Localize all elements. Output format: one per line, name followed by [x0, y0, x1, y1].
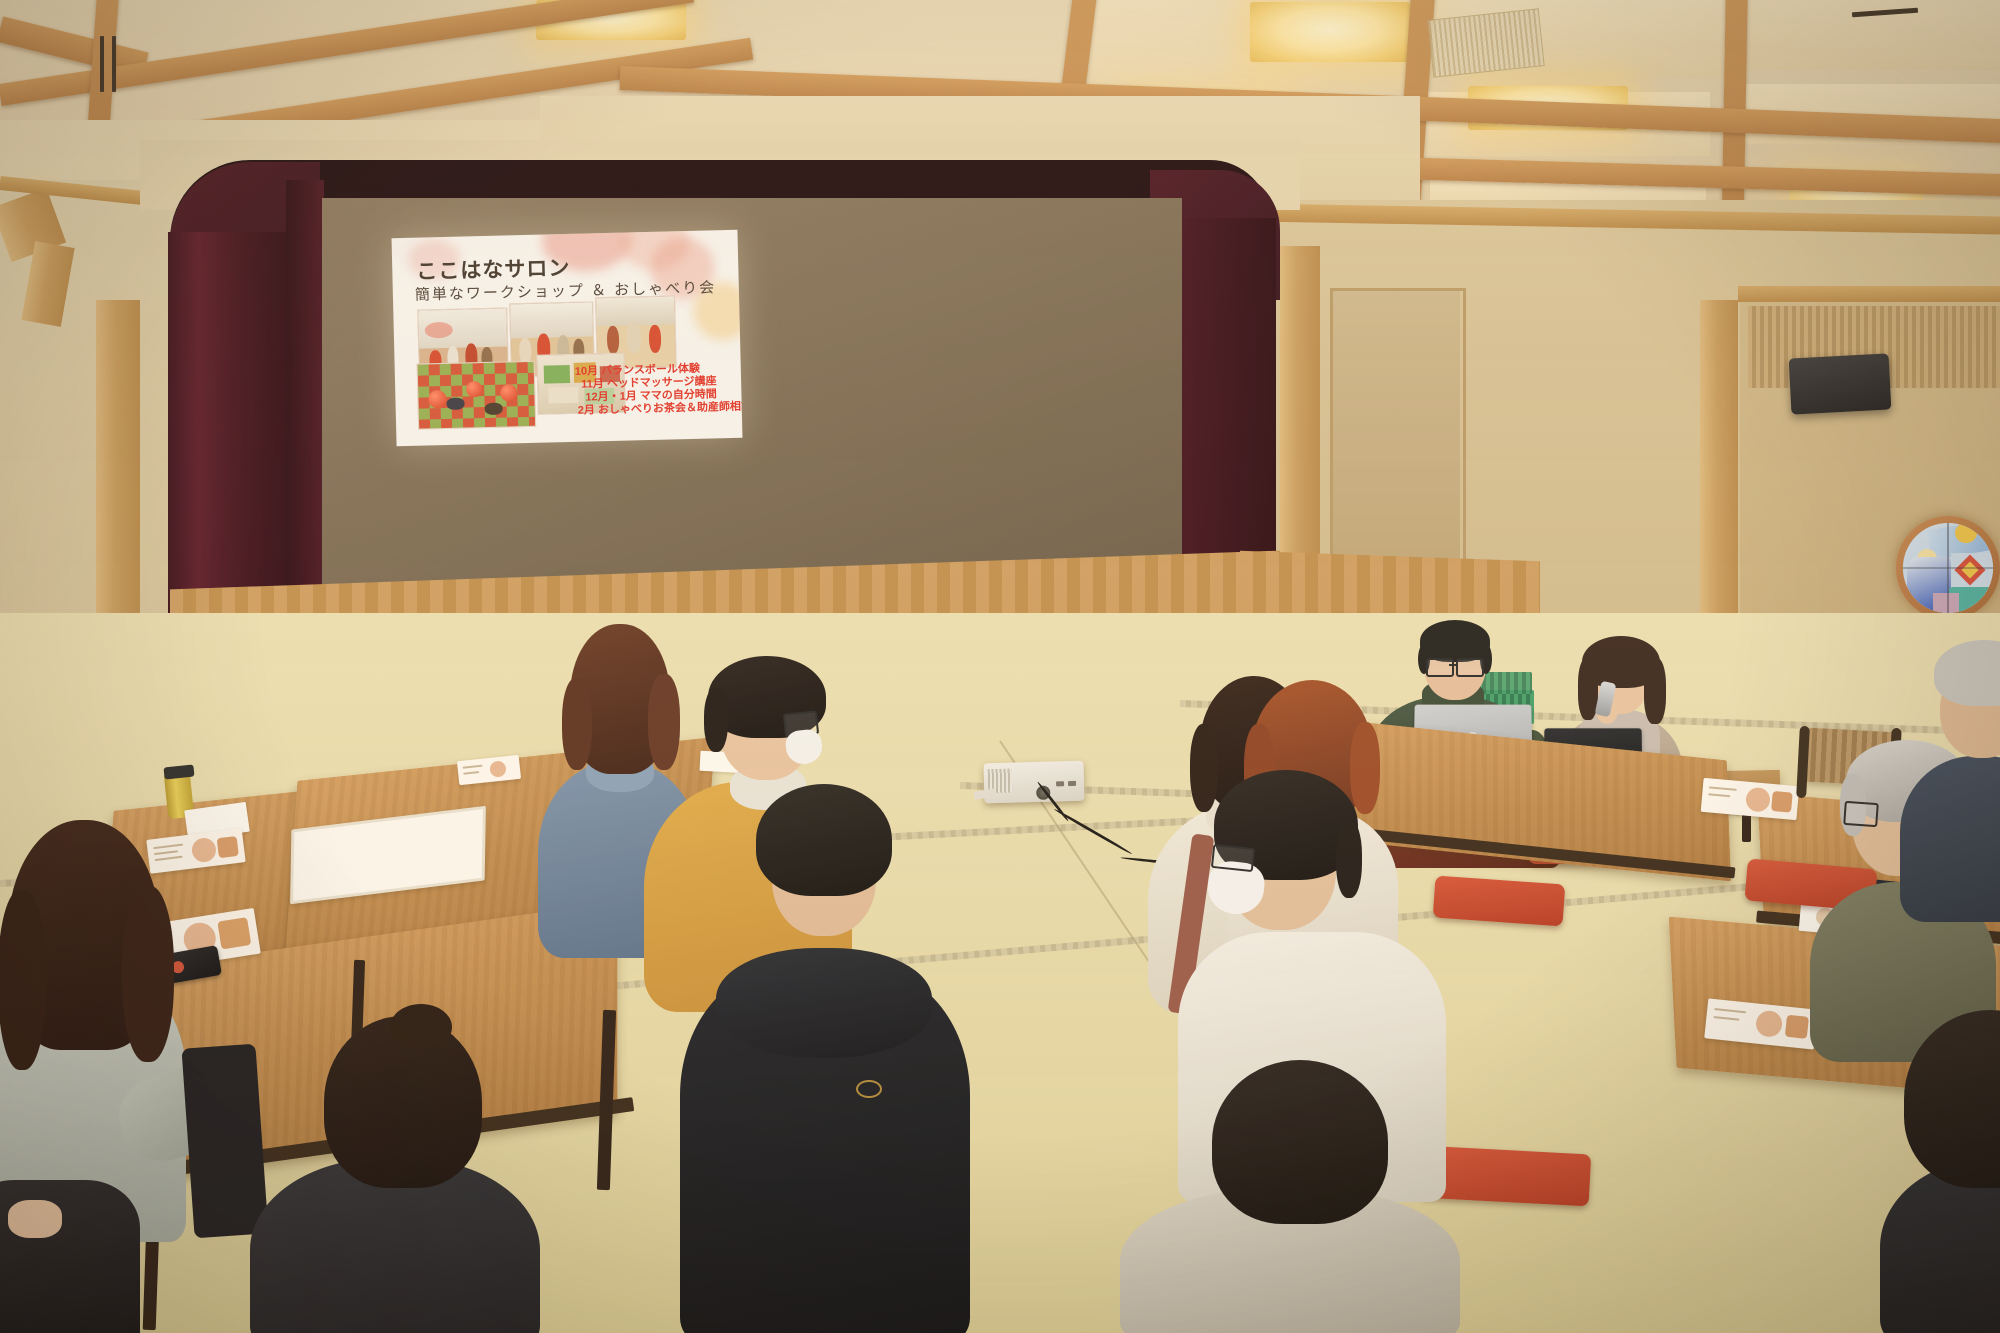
slide-schedule: 10月 バランスボール体験 11月 ヘッドマッサージ講座 12月・1月 ママの自…	[575, 362, 743, 418]
hair	[1212, 1060, 1388, 1224]
hand	[8, 1200, 62, 1238]
attendee-left-edge	[0, 1180, 140, 1333]
speaker-icon	[1789, 353, 1892, 414]
glass-pane	[1955, 523, 1977, 543]
hair	[562, 678, 592, 770]
hair	[1904, 1010, 2000, 1188]
floor-cushion	[1433, 876, 1566, 927]
hair	[1644, 658, 1666, 724]
attendee-bottom-right	[1880, 1010, 2000, 1333]
glasses-icon	[1211, 844, 1255, 872]
jacket-loop	[856, 1080, 882, 1098]
ceiling-vent	[1427, 8, 1544, 77]
hair	[1934, 640, 2000, 706]
hood	[716, 948, 932, 1058]
attendee-bottom-center	[1120, 1060, 1460, 1333]
body	[1900, 756, 2000, 922]
projector	[983, 761, 1084, 804]
glass-lead	[1903, 567, 1993, 569]
attendee-black-jacket	[680, 780, 970, 1333]
attendee-far-right	[1900, 640, 2000, 920]
hair	[1336, 820, 1362, 898]
hair	[704, 688, 728, 752]
slide-photo	[417, 361, 537, 430]
hair	[756, 784, 892, 896]
attendee-left-back	[250, 1010, 540, 1333]
hair-bun	[390, 1004, 452, 1050]
ceiling-slit	[100, 36, 104, 92]
glasses-icon	[1843, 801, 1879, 827]
hair	[122, 886, 174, 1062]
glasses-icon	[1456, 658, 1484, 677]
presentation-slide: ここはなサロン 簡単なワークショップ ＆ おしゃべり会	[392, 230, 743, 446]
wall-trim	[1738, 286, 2000, 302]
stained-glass-window	[1896, 516, 2000, 620]
glass-pane	[1933, 593, 1959, 613]
ceiling-slit	[112, 36, 116, 92]
glasses-icon	[1426, 658, 1454, 677]
room-photo: ここはなサロン 簡単なワークショップ ＆ おしゃべり会	[0, 0, 2000, 1333]
hair	[0, 890, 46, 1070]
glasses-bridge	[1449, 664, 1457, 666]
ceiling-light	[1250, 2, 1410, 62]
